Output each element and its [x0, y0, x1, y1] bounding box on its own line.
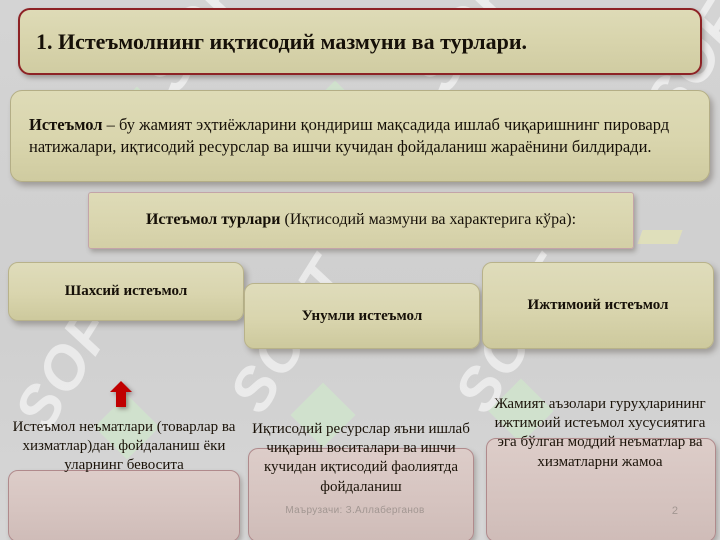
description-text-1: Истеъмол неъматлари (товарлар ва хизматл…	[6, 418, 242, 476]
types-header-term: Истеъмол турлари	[146, 211, 281, 228]
definition-body: – бу жамият эҳтиёжларини қондириш мақсад…	[29, 115, 669, 156]
category-label: Ижтимоий истеъмол	[528, 297, 669, 314]
category-label: Шахсий истеъмол	[65, 283, 188, 300]
description-panel-1	[8, 470, 240, 540]
description-text-2: Иқтисодий ресурслар яъни ишлаб чиқариш в…	[246, 420, 476, 497]
category-box-social-consumption[interactable]: Ижтимоий истеъмол	[482, 262, 714, 349]
slide-canvas: SOFT SOFT SOFT SOFT SOFT SOFT 1. Истеъмо…	[0, 0, 720, 540]
up-arrow-icon	[110, 381, 132, 407]
types-header-box: Истеъмол турлари (Иқтисодий мазмуни ва х…	[88, 192, 634, 249]
page-title: 1. Истеъмолнинг иқтисодий мазмуни ва тур…	[36, 29, 527, 55]
slide-title-box: 1. Истеъмолнинг иқтисодий мазмуни ва тур…	[18, 8, 702, 75]
watermark-chevron-icon	[637, 230, 682, 244]
category-box-personal-consumption[interactable]: Шахсий истеъмол	[8, 262, 244, 321]
category-label: Унумли истеъмол	[302, 308, 423, 325]
definition-term: Истеъмол	[29, 115, 103, 134]
footer-credit: Маърузачи: З.Аллаберганов	[250, 505, 460, 516]
description-text-3: Жамият аъзолари гуруҳларининг ижтимоий и…	[484, 395, 716, 472]
types-header-body: (Иқтисодий мазмуни ва характерига кўра):	[280, 211, 576, 228]
definition-box: Истеъмол – бу жамият эҳтиёжларини қондир…	[10, 90, 710, 182]
category-box-productive-consumption[interactable]: Унумли истеъмол	[244, 283, 480, 349]
slide-number: 2	[672, 505, 678, 517]
